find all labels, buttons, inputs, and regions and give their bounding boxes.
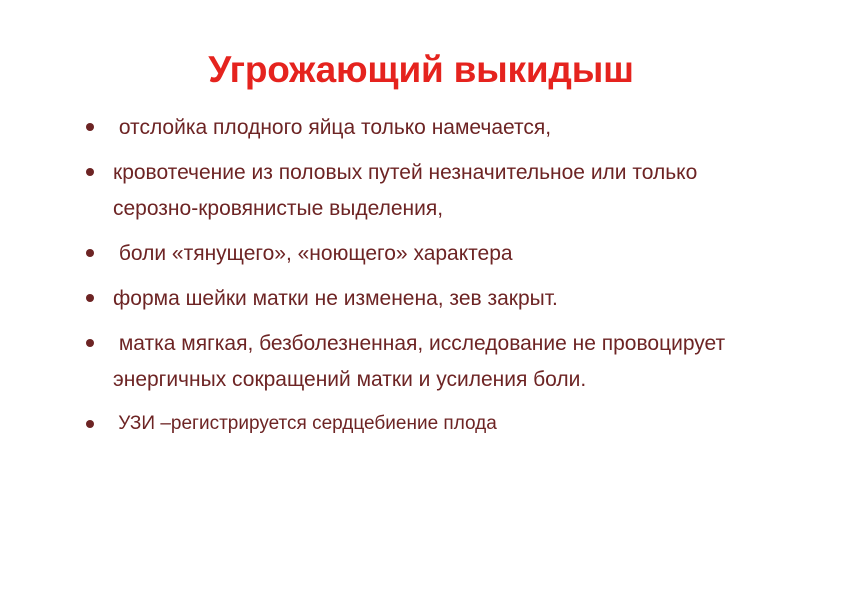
bullet-marker-icon [86,123,94,131]
list-item-text: кровотечение из половых путей незначител… [113,155,782,227]
list-item-text: боли «тянущего», «ноющего» характера [113,236,782,272]
bullet-marker-icon [86,339,94,347]
list-item-text: УЗИ –регистрируется сердцебиение плода [113,407,782,441]
page-title: Угрожающий выкидыш [0,48,842,92]
bullet-marker-icon [86,168,94,176]
bullet-marker-icon [86,420,94,428]
list-item: кровотечение из половых путей незначител… [0,155,842,227]
list-item: боли «тянущего», «ноющего» характера [0,236,842,272]
list-item-text: отслойка плодного яйца только намечается… [113,110,782,146]
bullet-marker-icon [86,249,94,257]
list-item-text: форма шейки матки не изменена, зев закры… [113,281,782,317]
list-item-text: матка мягкая, безболезненная, исследован… [113,326,782,398]
list-item: УЗИ –регистрируется сердцебиение плода [0,407,842,441]
bullet-marker-icon [86,294,94,302]
list-item: отслойка плодного яйца только намечается… [0,110,842,146]
list-item: форма шейки матки не изменена, зев закры… [0,281,842,317]
list-item: матка мягкая, безболезненная, исследован… [0,326,842,398]
slide: Угрожающий выкидыш отслойка плодного яйц… [0,0,842,596]
bullet-list: отслойка плодного яйца только намечается… [0,110,842,450]
